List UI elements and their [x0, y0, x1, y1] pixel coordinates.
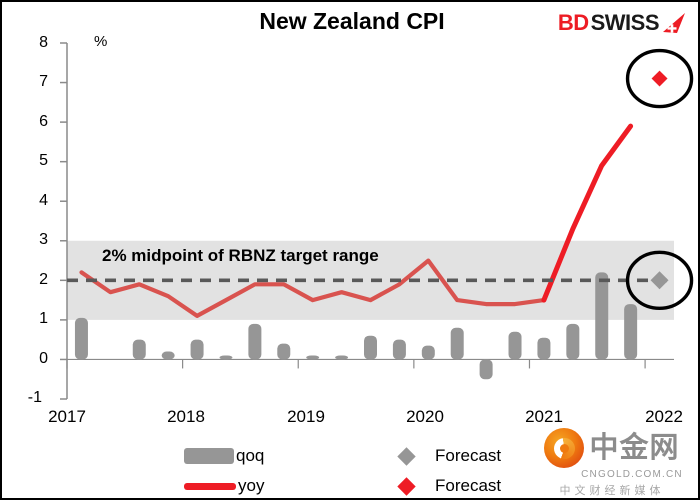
bar-2018Q2: [219, 355, 232, 359]
y-tick-neg1: -1: [16, 389, 42, 407]
logo-text-swiss: SWISS: [591, 10, 659, 36]
bar-2017Q3: [133, 340, 146, 360]
yoy-line: [544, 126, 631, 300]
legend-item-forecast-qoq[interactable]: Forecast: [382, 446, 501, 466]
cngold-logo-icon: [544, 428, 584, 468]
x-tick-2020: 2020: [393, 407, 457, 427]
y-tick-1: 1: [22, 310, 48, 328]
x-tick-2018: 2018: [154, 407, 218, 427]
bdswiss-logo: BD SWISS: [558, 10, 686, 36]
highlight-ellipse-qoq: [628, 252, 692, 308]
y-tick-3: 3: [22, 231, 48, 249]
y-tick-5: 5: [22, 152, 48, 170]
bar-2019Q4: [393, 340, 406, 360]
bar-2017Q1: [75, 318, 88, 360]
y-tick-4: 4: [22, 192, 48, 210]
bar-2021Q2: [566, 324, 579, 360]
bar-2021Q4: [624, 304, 637, 359]
legend-bar-swatch: [184, 448, 234, 464]
legend-label-qoq: qoq: [236, 446, 264, 466]
bar-2019Q3: [364, 336, 377, 360]
legend-red-diamond-icon: [397, 477, 415, 495]
legend-label-forecast-yoy: Forecast: [435, 476, 501, 496]
legend-label-yoy: yoy: [238, 476, 264, 496]
bar-2020Q1: [422, 346, 435, 360]
legend-item-forecast-yoy[interactable]: Forecast: [382, 476, 501, 496]
x-tick-2021: 2021: [512, 407, 576, 427]
chart-frame: New Zealand CPI BD SWISS % 8 7 6 5 4 3 2…: [0, 0, 700, 500]
bar-2019Q2: [335, 355, 348, 359]
legend-gray-diamond-icon: [397, 447, 415, 465]
watermark-brand-row: 中金网: [544, 428, 679, 468]
bar-2021Q1: [537, 338, 550, 360]
bar-2018Q3: [248, 324, 261, 360]
legend-label-forecast-qoq: Forecast: [435, 446, 501, 466]
bar-2021Q3: [595, 272, 608, 359]
watermark-domain: CNGOLD.COM.CN: [581, 469, 683, 480]
legend-item-yoy[interactable]: yoy: [184, 476, 264, 496]
x-tick-2019: 2019: [274, 407, 338, 427]
highlight-ellipse-yoy: [628, 51, 692, 107]
watermark-tagline: 中文财经新媒体: [560, 482, 665, 498]
y-tick-6: 6: [22, 113, 48, 131]
y-tick-8: 8: [22, 34, 48, 52]
y-axis-unit-label: %: [94, 33, 107, 50]
bar-2018Q4: [277, 344, 290, 360]
logo-arrow-icon: [660, 12, 686, 34]
forecast-diamond-qoq: [651, 271, 669, 289]
watermark: 中金网 CNGOLD.COM.CN 中文财经新媒体: [531, 428, 693, 494]
bar-2018Q1: [191, 340, 204, 360]
legend-line-swatch: [184, 483, 236, 490]
target-band-label: 2% midpoint of RBNZ target range: [102, 246, 379, 266]
watermark-name: 中金网: [589, 434, 679, 463]
legend-item-qoq[interactable]: qoq: [184, 446, 264, 466]
bar-2017Q4: [162, 352, 175, 360]
bar-2019Q1: [306, 355, 319, 359]
y-tick-2: 2: [22, 271, 48, 289]
x-tick-2022: 2022: [632, 407, 696, 427]
y-tick-0: 0: [22, 350, 48, 368]
y-tick-7: 7: [22, 73, 48, 91]
bar-2020Q4: [509, 332, 522, 360]
x-tick-2017: 2017: [35, 407, 99, 427]
bar-2020Q3: [480, 359, 493, 379]
bar-2020Q2: [451, 328, 464, 360]
forecast-diamond-yoy: [652, 71, 668, 87]
yoy-line: [82, 261, 544, 316]
logo-text-bd: BD: [558, 10, 589, 36]
